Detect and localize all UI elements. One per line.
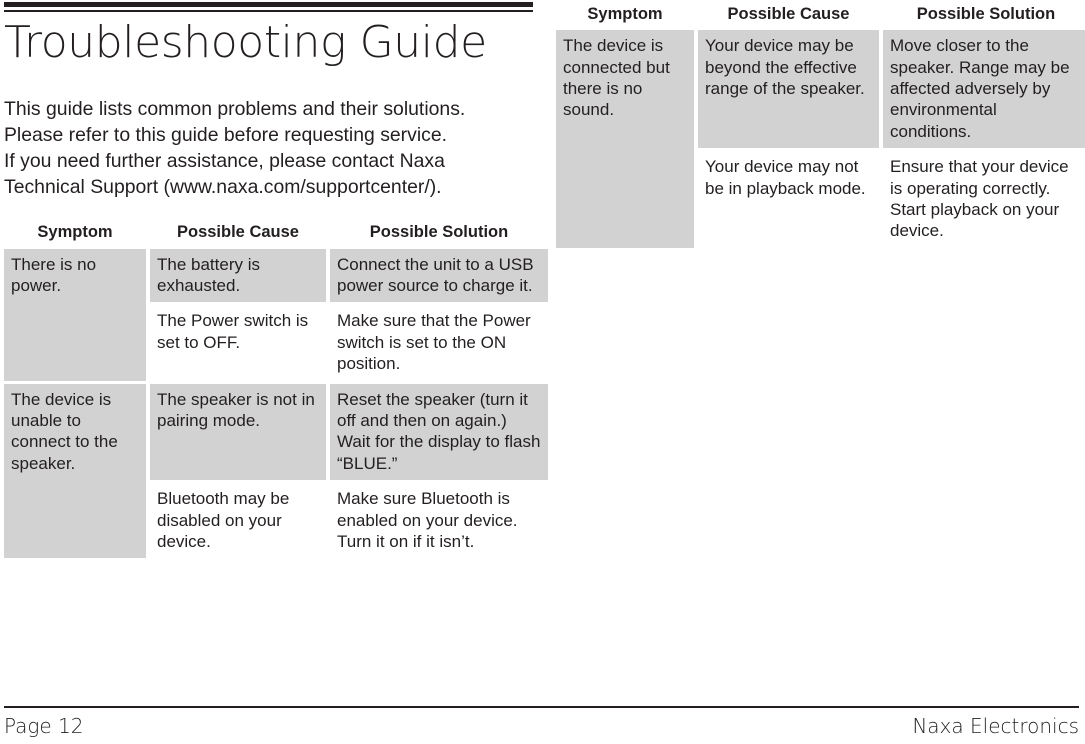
table-left-body: There is no power. The battery is exhaus… — [4, 249, 548, 559]
troubleshooting-table-left: Symptom Possible Cause Possible Solution… — [0, 220, 552, 561]
cell-symptom: The device is connected but there is no … — [556, 30, 694, 248]
page-title: Troubleshooting Guide — [4, 20, 540, 66]
manual-page: Troubleshooting Guide This guide lists c… — [0, 0, 1085, 744]
table-right-header: Symptom Possible Cause Possible Solution — [556, 5, 1085, 27]
cell-solution: Make sure Bluetooth is enabled on your d… — [330, 483, 548, 558]
page-footer: Page 12 Naxa Electronics — [4, 706, 1079, 738]
table-header-row: Symptom Possible Cause Possible Solution — [4, 223, 548, 245]
footer-rule — [4, 706, 1079, 708]
column-header-solution: Possible Solution — [883, 5, 1085, 27]
cell-cause: The Power switch is set to OFF. — [150, 305, 326, 380]
footer-row: Page 12 Naxa Electronics — [4, 714, 1079, 738]
intro-paragraph: This guide lists common problems and the… — [4, 96, 535, 201]
cell-solution: Reset the speaker (turn it off and then … — [330, 384, 548, 481]
table-row: There is no power. The battery is exhaus… — [4, 249, 548, 303]
column-header-symptom: Symptom — [556, 5, 694, 27]
column-header-cause: Possible Cause — [150, 223, 326, 245]
table-right-body: The device is connected but there is no … — [556, 30, 1085, 248]
column-header-symptom: Symptom — [4, 223, 146, 245]
intro-line-3: If you need further assistance, please c… — [4, 148, 535, 174]
header-double-rule — [4, 2, 533, 12]
cell-cause: The speaker is not in pairing mode. — [150, 384, 326, 481]
cell-solution: Make sure that the Power switch is set t… — [330, 305, 548, 380]
cell-solution: Move closer to the speaker. Range may be… — [883, 30, 1085, 148]
footer-brand: Naxa Electronics — [912, 714, 1079, 738]
cell-solution: Connect the unit to a USB power source t… — [330, 249, 548, 303]
intro-line-2: Please refer to this guide before reques… — [4, 122, 535, 148]
table-header-row: Symptom Possible Cause Possible Solution — [556, 5, 1085, 27]
cell-cause: Your device may be beyond the effective … — [698, 30, 879, 148]
column-header-cause: Possible Cause — [698, 5, 879, 27]
cell-cause: Bluetooth may be disabled on your device… — [150, 483, 326, 558]
intro-line-4: Technical Support (www.naxa.com/supportc… — [4, 174, 535, 200]
troubleshooting-table-right: Symptom Possible Cause Possible Solution… — [552, 2, 1085, 251]
cell-symptom: The device is unable to connect to the s… — [4, 384, 146, 559]
cell-cause: The battery is exhausted. — [150, 249, 326, 303]
table-left-header: Symptom Possible Cause Possible Solution — [4, 223, 548, 245]
footer-page-number: Page 12 — [4, 714, 84, 738]
cell-solution: Ensure that your device is operating cor… — [883, 151, 1085, 248]
left-column: Troubleshooting Guide This guide lists c… — [4, 0, 540, 561]
table-row: The device is unable to connect to the s… — [4, 384, 548, 481]
header-rule-thin — [4, 10, 533, 12]
column-header-solution: Possible Solution — [330, 223, 548, 245]
table-row: The device is connected but there is no … — [556, 30, 1085, 148]
cell-cause: Your device may not be in playback mode. — [698, 151, 879, 248]
right-column: Symptom Possible Cause Possible Solution… — [556, 0, 1077, 251]
cell-symptom: There is no power. — [4, 249, 146, 381]
intro-line-1: This guide lists common problems and the… — [4, 96, 535, 122]
